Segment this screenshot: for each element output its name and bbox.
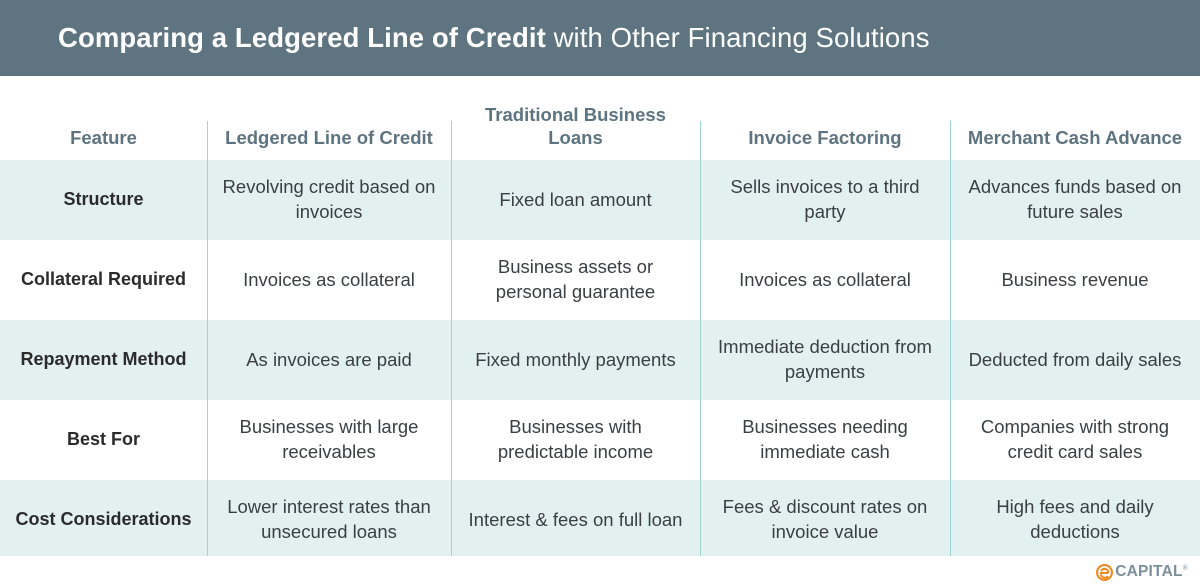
table-row: Structure Revolving credit based on invo… [0,160,1200,240]
row-value-cell: Invoices as collateral [700,240,950,320]
row-feature-cell: Best For [0,400,207,480]
row-value-text: Fixed monthly payments [475,348,676,373]
row-value-text: As invoices are paid [246,348,412,373]
row-value-cell: Business assets or personal guarantee [451,240,700,320]
column-header-merchant-cash-advance: Merchant Cash Advance [950,76,1200,160]
page-title: Comparing a Ledgered Line of Credit with… [58,22,930,54]
column-header-ledgered-line-of-credit: Ledgered Line of Credit [207,76,451,160]
column-header-label: Ledgered Line of Credit [225,126,433,150]
row-value-cell: Revolving credit based on invoices [207,160,451,240]
row-value-cell: Business revenue [950,240,1200,320]
row-value-cell: Businesses with large receivables [207,400,451,480]
row-value-text: Businesses needing immediate cash [714,415,936,464]
row-value-text: Invoices as collateral [739,268,911,293]
row-value-text: Advances funds based on future sales [964,175,1186,224]
column-header-label: Invoice Factoring [748,126,901,150]
page-title-remainder: with Other Financing Solutions [546,22,930,53]
row-value-cell: Sells invoices to a third party [700,160,950,240]
column-header-invoice-factoring: Invoice Factoring [700,76,950,160]
row-feature-cell: Structure [0,160,207,240]
row-value-text: Business assets or personal guarantee [465,255,686,304]
row-value-cell: Interest & fees on full loan [451,480,700,560]
row-value-text: Business revenue [1001,268,1148,293]
column-header-label: Merchant Cash Advance [968,126,1182,150]
table-row: Collateral Required Invoices as collater… [0,240,1200,320]
row-value-cell: Invoices as collateral [207,240,451,320]
footer-bar: CAPITAL® [0,556,1200,588]
row-value-text: Deducted from daily sales [969,348,1182,373]
column-header-feature: Feature [0,76,207,160]
page-title-emphasis: Comparing a Ledgered Line of Credit [58,22,546,53]
row-value-text: Businesses with large receivables [221,415,437,464]
row-value-text: Lower interest rates than unsecured loan… [221,495,437,544]
row-value-cell: Companies with strong credit card sales [950,400,1200,480]
comparison-table: Feature Ledgered Line of Credit Traditio… [0,76,1200,560]
row-value-text: Invoices as collateral [243,268,415,293]
row-feature-label: Structure [63,188,143,211]
row-feature-cell: Repayment Method [0,320,207,400]
table-row: Repayment Method As invoices are paid Fi… [0,320,1200,400]
row-value-text: Fees & discount rates on invoice value [714,495,936,544]
column-header-label: Feature [70,126,137,150]
row-value-text: Fixed loan amount [499,188,651,213]
registered-trademark-icon: ® [1183,565,1188,572]
row-value-cell: High fees and daily deductions [950,480,1200,560]
ecapital-wordmark-text: CAPITAL [1115,563,1182,580]
row-value-text: High fees and daily deductions [964,495,1186,544]
row-value-cell: Deducted from daily sales [950,320,1200,400]
row-value-cell: Businesses with predictable income [451,400,700,480]
ecapital-logo: CAPITAL® [1096,564,1188,581]
column-header-traditional-business-loans: Traditional Business Loans [451,76,700,160]
table-header-row: Feature Ledgered Line of Credit Traditio… [0,76,1200,160]
row-value-cell: Fixed monthly payments [451,320,700,400]
row-feature-label: Collateral Required [21,268,186,291]
row-value-text: Revolving credit based on invoices [221,175,437,224]
row-value-text: Sells invoices to a third party [714,175,936,224]
row-value-text: Companies with strong credit card sales [964,415,1186,464]
table-row: Cost Considerations Lower interest rates… [0,480,1200,560]
ecapital-wordmark: CAPITAL® [1115,564,1188,580]
row-value-cell: Immediate deduction from payments [700,320,950,400]
row-feature-label: Cost Considerations [15,508,191,531]
row-feature-label: Best For [67,428,140,451]
ecapital-e-icon [1096,564,1113,581]
row-value-cell: Fixed loan amount [451,160,700,240]
row-value-text: Immediate deduction from payments [714,335,936,384]
row-value-cell: Fees & discount rates on invoice value [700,480,950,560]
row-feature-cell: Collateral Required [0,240,207,320]
title-bar: Comparing a Ledgered Line of Credit with… [0,0,1200,76]
row-feature-cell: Cost Considerations [0,480,207,560]
row-value-cell: As invoices are paid [207,320,451,400]
row-value-cell: Lower interest rates than unsecured loan… [207,480,451,560]
row-value-text: Businesses with predictable income [465,415,686,464]
row-value-cell: Advances funds based on future sales [950,160,1200,240]
row-feature-label: Repayment Method [20,348,186,371]
row-value-text: Interest & fees on full loan [469,508,683,533]
row-value-cell: Businesses needing immediate cash [700,400,950,480]
column-header-label: Traditional Business Loans [465,103,686,150]
comparison-table-infographic: Comparing a Ledgered Line of Credit with… [0,0,1200,588]
table-row: Best For Businesses with large receivabl… [0,400,1200,480]
